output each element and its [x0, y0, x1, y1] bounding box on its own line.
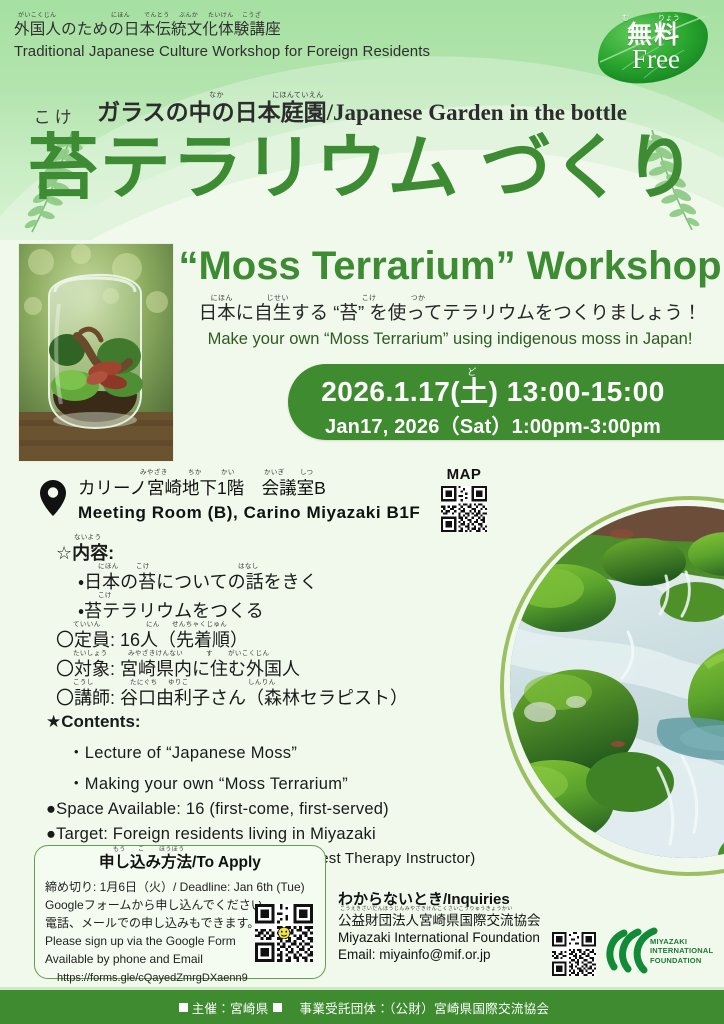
- location-pin-icon: [40, 480, 66, 516]
- subtitle-ruby-wrap: なか にほんていえん ガラスの中の日本庭園/Japanese Garden in…: [97, 101, 627, 124]
- ruby-ko: こ: [138, 847, 144, 853]
- ruby-yuriko: ゆりこ: [168, 680, 189, 687]
- ruby-koke-b1: こけ: [136, 564, 150, 571]
- ruby-kouza: こうざ: [242, 13, 261, 19]
- ruby-nihon-lead: にほん: [211, 295, 233, 302]
- jp-lead: にほん じせい こけ つか 日本に自生する “苔” を使ってテラリウムをつくりま…: [176, 302, 724, 324]
- ruby-jisei: じせい: [267, 295, 289, 302]
- date-jp: ど 2026.1.17(土) 13:00-15:00: [288, 376, 698, 408]
- footer-square-icon: [273, 1003, 282, 1012]
- ruby-shitsu: しつ: [300, 469, 313, 477]
- ruby-naiyou: ないよう: [74, 535, 101, 542]
- apply-url[interactable]: https://forms.gle/cQayedZmrgDXaenn9: [57, 972, 325, 984]
- footer-commissioned: 事業受託団体：（公財）宮崎県国際交流協会: [300, 998, 550, 1017]
- apply-box: もう こ ほうほう 申し込み方法/To Apply 締め切り: 1月6日（火）/…: [34, 845, 326, 979]
- ruby-kai: かい: [221, 469, 235, 477]
- details-en-block: ★Contents: ・Lecture of “Japanese Moss” ・…: [46, 712, 475, 867]
- details-jp-heading: ないよう ☆内容:: [56, 544, 408, 562]
- ruby-do: ど: [467, 368, 476, 377]
- inquiries-org-en: Miyazaki International Foundation: [338, 930, 541, 945]
- details-jp-instructor-text: 〇講師: 谷口由利子さん（森林セラピスト）: [56, 688, 408, 708]
- details-en-bullet: ・Making your own “Moss Terrarium”: [68, 770, 475, 794]
- inquiries-email[interactable]: Email: miyainfo@mif.or.jp: [338, 947, 541, 962]
- mif-logo-text: MIYAZAKI INTERNATIONAL FOUNDATION: [650, 937, 713, 965]
- ruby-nin: にん: [146, 622, 160, 629]
- ruby-koke-lead: こけ: [362, 295, 377, 302]
- free-badge-en: Free: [614, 46, 698, 73]
- workshop-headline: “Moss Terrarium” Workshop: [176, 244, 724, 289]
- ruby-ryou: りょう: [658, 15, 680, 22]
- subtitle-text: ガラスの中の日本庭園/Japanese Garden in the bottle: [97, 100, 627, 125]
- jp-lead-ruby-wrap: にほん じせい こけ つか 日本に自生する “苔” を使ってテラリウムをつくりま…: [199, 304, 702, 323]
- ruby-mu: む: [622, 15, 629, 22]
- title-ruby-wrap: こけ 苔テラリウム づくり: [28, 133, 697, 204]
- footer-text: 主催：宮崎県 事業受託団体：（公財）宮崎県国際交流協会: [0, 990, 724, 1024]
- venue-jp-text: カリーノ宮崎地下1階 会議室B: [78, 478, 326, 498]
- venue-block: みやざき ちか かい かいぎ しつ カリーノ宮崎地下1階 会議室B Meetin…: [78, 478, 420, 523]
- header-text-block: がいこくじん にほん でんとう ぶんか たいけん こうざ 外国人のための日本伝統…: [14, 22, 430, 60]
- map-block: MAP: [434, 466, 494, 532]
- ruby-teiin: ていいん: [73, 622, 101, 629]
- inquiries-org-jp: こうえきざいだんほうじんみやざきけんこくさいこうりゅうきょうかい 公益財団法人宮…: [338, 914, 541, 928]
- header-en-title: Traditional Japanese Culture Workshop fo…: [14, 43, 430, 60]
- ruby-naka: なか: [209, 92, 224, 99]
- details-jp-block: ないよう ☆内容: にほん こけ はなし ・日本の苔についての話をきく こけ ・…: [56, 544, 408, 707]
- ruby-taishou: たいしょう: [73, 651, 108, 658]
- details-en-capacity: ●Space Available: 16 (first-come, first-…: [46, 800, 475, 819]
- venue-en: Meeting Room (B), Carino Miyazaki B1F: [78, 503, 420, 523]
- inquiries-block: わからないとき/Inquiries こうえきざいだんほうじんみやざきけんこくさい…: [338, 888, 541, 962]
- ruby-taiken: たいけん: [208, 13, 234, 19]
- page-title: こけ 苔テラリウム づくり: [0, 132, 724, 207]
- header-jp-title-line: がいこくじん にほん でんとう ぶんか たいけん こうざ 外国人のための日本伝統…: [14, 22, 430, 38]
- ruby-dentou: でんとう: [144, 13, 170, 19]
- details-jp-heading-text: ☆内容:: [56, 543, 114, 563]
- terrarium-photo: [18, 243, 174, 462]
- inquiries-org-jp-text: 公益財団法人宮崎県国際交流協会: [338, 913, 541, 928]
- ruby-koke: こけ: [34, 109, 76, 126]
- ruby-koke-b2: こけ: [98, 593, 112, 600]
- ruby-senchakujun: せんちゃくじゅん: [172, 622, 227, 629]
- ruby-gaikokujin: がいこくじん: [18, 13, 56, 19]
- details-en-target: ●Target: Foreign residents living in Miy…: [46, 825, 475, 844]
- ruby-chika: ちか: [188, 469, 202, 477]
- details-en-heading: ★Contents:: [46, 712, 475, 732]
- ruby-miyazakikennai: みやざきけんない: [128, 651, 183, 658]
- apply-title: もう こ ほうほう 申し込み方法/To Apply: [35, 855, 325, 871]
- mif-logo: MIYAZAKI INTERNATIONAL FOUNDATION: [602, 925, 714, 979]
- details-en-bullet: ・Lecture of “Japanese Moss”: [68, 739, 475, 763]
- ruby-kaigi: かいぎ: [264, 469, 285, 477]
- details-jp-bullet-text: ・日本の苔についての話をきく: [78, 572, 318, 592]
- date-banner: ど 2026.1.17(土) 13:00-15:00 Jan17, 2026（S…: [288, 364, 724, 440]
- mif-line-2: INTERNATIONAL: [650, 946, 713, 955]
- ruby-nihon-b1: にほん: [98, 564, 119, 571]
- map-qr-code[interactable]: [441, 486, 487, 532]
- ruby-miyazaki: みやざき: [140, 469, 168, 477]
- details-jp-instructor: こうし たにぐち ゆりこ しんりん 〇講師: 谷口由利子さん（森林セラピスト）: [56, 689, 408, 707]
- date-ruby-wrap: ど 2026.1.17(土) 13:00-15:00: [321, 378, 665, 406]
- apply-title-text: 申し込み方法/To Apply: [99, 854, 261, 871]
- ruby-koushi: こうし: [73, 680, 94, 687]
- terrarium-photo-svg: [19, 244, 173, 461]
- details-jp-bullet-text: ・苔テラリウムをつくる: [78, 601, 264, 621]
- apply-deadline: 締め切り: 1月6日（火）/ Deadline: Jan 6th (Tue): [45, 878, 325, 896]
- ruby-su: す: [206, 651, 213, 658]
- inquiries-qr-code[interactable]: [552, 932, 596, 976]
- details-jp-bullet: にほん こけ はなし ・日本の苔についての話をきく: [78, 573, 408, 591]
- header-jp-title: 外国人のための日本伝統文化体験講座: [14, 21, 281, 38]
- free-badge: む りょう 無料 Free: [592, 8, 714, 88]
- details-jp-capacity-text: 〇定員: 16人（先着順）: [56, 630, 248, 650]
- footer-organizer: 主催：宮崎県: [192, 998, 269, 1017]
- ruby-org-jp: こうえきざいだんほうじんみやざきけんこくさいこうりゅうきょうかい: [340, 907, 513, 912]
- ruby-mou: もう: [113, 847, 126, 853]
- details-jp-capacity: ていいん にん せんちゃくじゅん 〇定員: 16人（先着順）: [56, 631, 408, 649]
- mif-line-3: FOUNDATION: [650, 956, 713, 965]
- details-jp-bullet: こけ ・苔テラリウムをつくる: [78, 602, 408, 620]
- poster-root: がいこくじん にほん でんとう ぶんか たいけん こうざ 外国人のための日本伝統…: [0, 0, 724, 1024]
- ruby-taniguchi: たにぐち: [130, 680, 157, 687]
- jp-lead-text: 日本に自生する “苔” を使ってテラリウムをつくりましょう！: [199, 302, 702, 323]
- mif-line-1: MIYAZAKI: [650, 937, 713, 946]
- details-jp-target-text: 〇対象: 宮崎県内に住む外国人: [56, 659, 300, 679]
- ruby-bunka: ぶんか: [179, 13, 198, 19]
- ruby-nihon: にほん: [111, 13, 130, 19]
- date-en: Jan17, 2026（Sat）1:00pm-3:00pm: [288, 410, 698, 439]
- en-lead: Make your own “Moss Terrarium” using ind…: [176, 330, 724, 349]
- ruby-gaikokujin-2: がいこくじん: [228, 651, 269, 658]
- title-text: 苔テラリウム づくり: [28, 129, 697, 208]
- details-jp-target: たいしょう みやざきけんない す がいこくじん 〇対象: 宮崎県内に住む外国人: [56, 660, 408, 678]
- ruby-nihonteien: にほんていえん: [272, 92, 323, 99]
- date-jp-text: 2026.1.17(土) 13:00-15:00: [321, 376, 665, 407]
- ruby-shinrin: しんりん: [248, 680, 276, 687]
- ruby-hanashi-b1: はなし: [238, 564, 259, 571]
- apply-qr-code[interactable]: [255, 904, 313, 962]
- ruby-tsuka: つか: [411, 295, 426, 302]
- ruby-houhou: ほうほう: [159, 847, 185, 853]
- map-label: MAP: [434, 466, 494, 483]
- venue-jp: みやざき ちか かい かいぎ しつ カリーノ宮崎地下1階 会議室B: [78, 478, 420, 500]
- footer-square-icon: [179, 1003, 188, 1012]
- subtitle: なか にほんていえん ガラスの中の日本庭園/Japanese Garden in…: [0, 100, 724, 126]
